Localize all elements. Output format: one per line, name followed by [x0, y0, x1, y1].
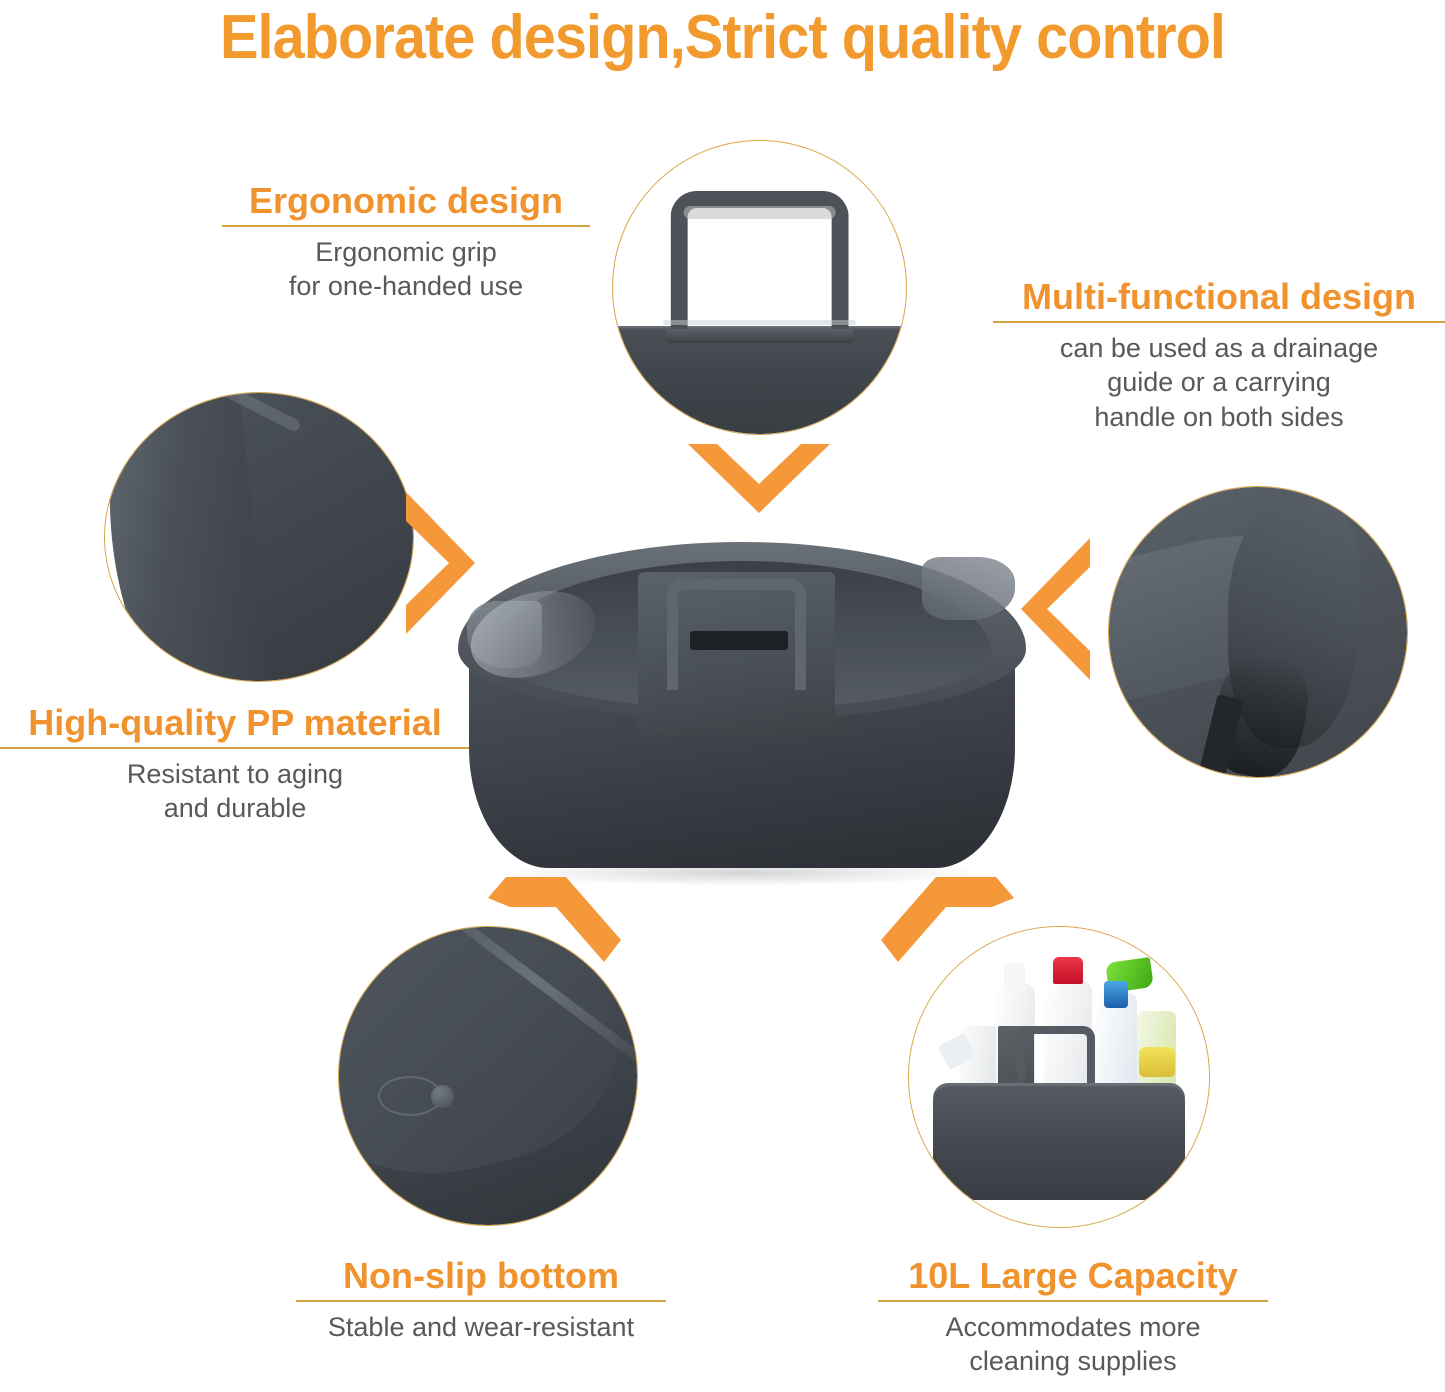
photo-inner — [1109, 487, 1407, 777]
arrow-up-left-to-product-icon — [486, 862, 626, 974]
product-cleaning-caddy — [452, 520, 1032, 890]
photo-inner — [105, 393, 413, 681]
arrow-up-right-to-product-icon — [876, 862, 1016, 974]
callout-ergonomic-design: Ergonomic design Ergonomic grip for one-… — [222, 182, 590, 304]
photo-side-notch-closeup — [1108, 486, 1408, 778]
heading-underline — [0, 747, 470, 749]
handle-highlight — [663, 320, 856, 325]
callout-heading: High-quality PP material — [0, 704, 470, 743]
callout-body: Resistant to aging and durable — [0, 757, 470, 826]
arrow-down-to-product-icon — [688, 444, 830, 522]
heading-underline — [296, 1300, 666, 1302]
handle-grip — [670, 191, 849, 338]
callout-body: Accommodates more cleaning supplies — [878, 1310, 1268, 1379]
callout-high-quality-pp-material: High-quality PP material Resistant to ag… — [0, 704, 470, 826]
callout-heading: Non-slip bottom — [296, 1257, 666, 1296]
caddy-side-notch-right — [922, 557, 1015, 620]
arrow-right-to-product-icon — [402, 492, 480, 634]
callout-non-slip-bottom: Non-slip bottom Stable and wear-resistan… — [296, 1257, 666, 1344]
callout-body: Ergonomic grip for one-handed use — [222, 235, 590, 304]
callout-heading: 10L Large Capacity — [878, 1257, 1268, 1296]
photo-inner — [613, 141, 906, 434]
callout-heading: Ergonomic design — [222, 182, 590, 221]
bottle-red-cap — [1053, 957, 1083, 984]
bottle-blue-cap — [1104, 981, 1128, 1008]
photo-pp-material-closeup — [104, 392, 414, 682]
page-title: Elaborate design,Strict quality control — [51, 2, 1395, 73]
arrow-left-to-product-icon — [1016, 538, 1094, 680]
heading-underline — [222, 225, 590, 227]
photo-handle-closeup — [612, 140, 907, 435]
heading-underline — [993, 321, 1445, 323]
callout-multi-functional-design: Multi-functional design can be used as a… — [993, 278, 1445, 435]
bottle-yellow-label — [1139, 1047, 1175, 1077]
heading-underline — [878, 1300, 1268, 1302]
callout-body: Stable and wear-resistant — [296, 1310, 666, 1345]
caddy-handle-slot — [690, 631, 789, 650]
callout-body: can be used as a drainage guide or a car… — [993, 331, 1445, 435]
callout-heading: Multi-functional design — [993, 278, 1445, 317]
handle-base-bar — [666, 329, 854, 343]
callout-10l-large-capacity: 10L Large Capacity Accommodates more cle… — [878, 1257, 1268, 1379]
caddy-body — [933, 1086, 1185, 1200]
